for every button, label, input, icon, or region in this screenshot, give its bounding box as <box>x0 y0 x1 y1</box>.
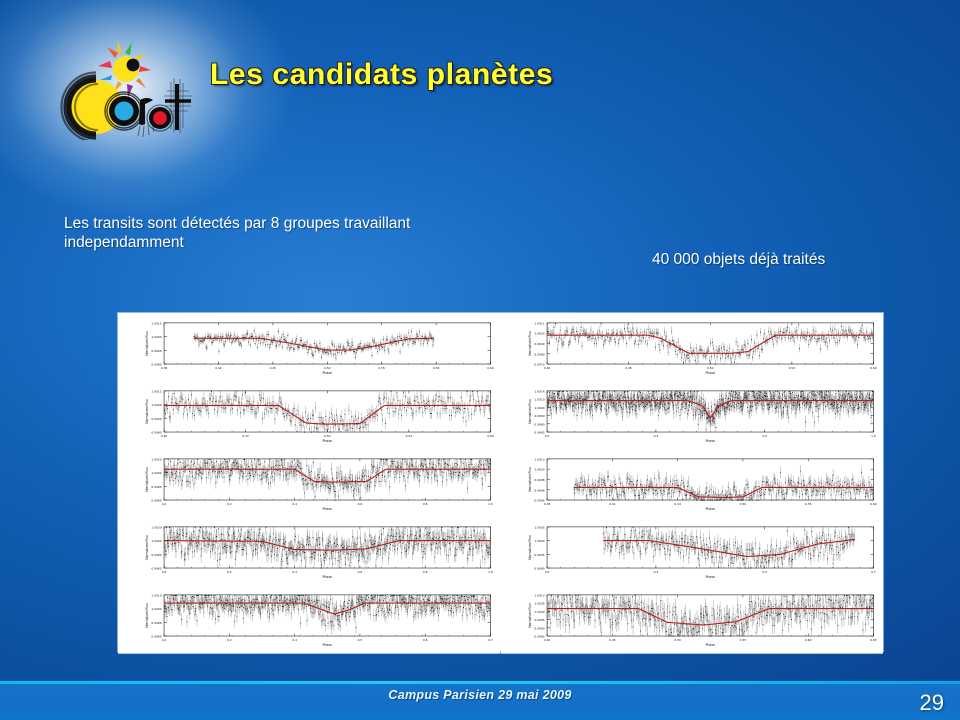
svg-text:0.55: 0.55 <box>739 639 746 643</box>
lightcurve-column-left: 1.00151.00000.99900.99800.380.420.450.50… <box>118 317 501 647</box>
svg-text:0.41: 0.41 <box>609 502 616 506</box>
svg-text:0.9996: 0.9996 <box>534 489 544 493</box>
svg-text:0.2: 0.2 <box>227 502 232 506</box>
svg-text:Normalized Flux: Normalized Flux <box>528 535 532 560</box>
body-text-left: Les transits sont détectés par 8 groupes… <box>64 214 464 252</box>
svg-text:Phase: Phase <box>705 643 715 647</box>
svg-text:1.0: 1.0 <box>488 502 493 506</box>
svg-text:0.9995: 0.9995 <box>534 553 544 557</box>
svg-text:0.54: 0.54 <box>406 434 413 438</box>
svg-text:1.0000: 1.0000 <box>151 540 161 544</box>
svg-text:0.0: 0.0 <box>162 502 167 506</box>
svg-text:Phase: Phase <box>705 507 715 511</box>
lightcurve-figure-panel: 1.00151.00000.99900.99800.380.420.450.50… <box>118 313 883 651</box>
svg-text:Normalized Flux: Normalized Flux <box>145 467 149 492</box>
svg-text:0.4: 0.4 <box>292 570 297 574</box>
svg-text:0.38: 0.38 <box>161 366 168 370</box>
svg-text:Normalized Flux: Normalized Flux <box>528 399 532 424</box>
svg-text:0.40: 0.40 <box>543 639 550 643</box>
svg-text:1.0012: 1.0012 <box>151 390 161 394</box>
svg-text:0.0: 0.0 <box>544 570 549 574</box>
footer-text: Campus Parisien 29 mai 2009 <box>0 688 960 702</box>
svg-text:0.4: 0.4 <box>653 570 658 574</box>
svg-text:1.0015: 1.0015 <box>151 321 161 325</box>
svg-text:0.44: 0.44 <box>674 502 681 506</box>
svg-text:0.9980: 0.9980 <box>151 553 161 557</box>
lightcurve-plot-lc-R4: 1.00051.00000.99950.99890.00.40.50.7Phas… <box>501 521 884 586</box>
svg-text:1.0020: 1.0020 <box>151 458 161 462</box>
svg-text:1.0000: 1.0000 <box>534 332 544 336</box>
slide-canvas: Les candidats planètes Les transits sont… <box>0 0 960 720</box>
svg-text:0.9990: 0.9990 <box>534 414 544 418</box>
svg-text:Normalized Flux: Normalized Flux <box>528 331 532 356</box>
lightcurve-plot-lc-R5: 1.00101.00051.00000.99950.99900.99850.40… <box>501 589 884 654</box>
lightcurve-plot-lc-L5: 1.00101.00000.99800.99600.00.20.40.50.60… <box>118 589 501 654</box>
svg-text:1.0000: 1.0000 <box>151 471 161 475</box>
lightcurve-plot-lc-L4: 1.00201.00000.99800.99600.00.20.40.60.81… <box>118 521 501 586</box>
lightcurve-plot-lc-L2: 1.00121.00000.99900.99800.400.470.500.54… <box>118 385 501 450</box>
svg-text:Phase: Phase <box>705 575 715 579</box>
svg-text:1.0000: 1.0000 <box>151 335 161 339</box>
svg-text:0.40: 0.40 <box>543 366 550 370</box>
svg-text:1.0005: 1.0005 <box>534 526 544 530</box>
svg-text:Normalized Flux: Normalized Flux <box>145 535 149 560</box>
svg-text:0.2: 0.2 <box>227 639 232 643</box>
svg-text:Phase: Phase <box>323 507 333 511</box>
svg-text:0.9980: 0.9980 <box>534 423 544 427</box>
svg-text:0.0: 0.0 <box>544 434 549 438</box>
svg-text:0.58: 0.58 <box>433 366 440 370</box>
svg-text:Phase: Phase <box>323 439 333 443</box>
svg-text:0.7: 0.7 <box>488 639 493 643</box>
svg-text:1.0000: 1.0000 <box>151 403 161 407</box>
svg-text:1.0: 1.0 <box>871 434 876 438</box>
svg-text:0.4: 0.4 <box>292 639 297 643</box>
svg-text:0.60: 0.60 <box>870 366 877 370</box>
svg-text:0.6: 0.6 <box>358 502 363 506</box>
svg-text:0.0: 0.0 <box>162 570 167 574</box>
lightcurve-plot-lc-R2: 1.00141.00101.00000.99900.99800.99650.00… <box>501 385 884 450</box>
svg-text:Normalized Flux: Normalized Flux <box>145 331 149 356</box>
lightcurve-plot-lc-R3: 1.00131.00000.99980.99960.99940.380.410.… <box>501 453 884 518</box>
svg-text:0.9990: 0.9990 <box>534 627 544 631</box>
logo-letter-o1 <box>105 92 143 130</box>
svg-text:0.7: 0.7 <box>871 570 876 574</box>
logo-letter-o2 <box>147 105 173 131</box>
svg-text:0.45: 0.45 <box>625 366 632 370</box>
svg-text:0.4: 0.4 <box>653 434 658 438</box>
svg-text:0.38: 0.38 <box>543 502 550 506</box>
svg-text:0.9990: 0.9990 <box>151 349 161 353</box>
svg-text:0.50: 0.50 <box>324 366 331 370</box>
svg-text:1.0000: 1.0000 <box>151 608 161 612</box>
svg-text:0.55: 0.55 <box>378 366 385 370</box>
svg-text:Phase: Phase <box>705 439 715 443</box>
svg-text:0.2: 0.2 <box>227 570 232 574</box>
svg-text:0.9965: 0.9965 <box>534 431 544 435</box>
svg-text:0.50: 0.50 <box>739 502 746 506</box>
svg-text:0.9989: 0.9989 <box>534 567 544 571</box>
svg-text:0.47: 0.47 <box>242 434 249 438</box>
svg-text:0.65: 0.65 <box>870 639 877 643</box>
svg-text:0.42: 0.42 <box>215 366 222 370</box>
svg-text:0.9960: 0.9960 <box>151 635 161 639</box>
svg-text:0.9960: 0.9960 <box>151 499 161 503</box>
svg-text:1.0000: 1.0000 <box>534 540 544 544</box>
svg-text:1.0000: 1.0000 <box>534 610 544 614</box>
svg-text:0.9960: 0.9960 <box>151 567 161 571</box>
svg-text:1.0014: 1.0014 <box>534 390 544 394</box>
svg-text:0.60: 0.60 <box>487 434 494 438</box>
svg-text:0.5: 0.5 <box>762 570 767 574</box>
svg-text:0.45: 0.45 <box>609 639 616 643</box>
svg-text:0.9980: 0.9980 <box>534 352 544 356</box>
svg-text:0.0: 0.0 <box>162 639 167 643</box>
svg-text:1.0000: 1.0000 <box>534 468 544 472</box>
page-number: 29 <box>920 690 944 716</box>
svg-text:0.6: 0.6 <box>358 570 363 574</box>
svg-text:Normalized Flux: Normalized Flux <box>528 603 532 628</box>
corot-logo <box>52 22 202 140</box>
svg-text:0.9980: 0.9980 <box>151 621 161 625</box>
svg-text:0.8: 0.8 <box>423 502 428 506</box>
svg-text:1.0005: 1.0005 <box>534 602 544 606</box>
svg-text:0.8: 0.8 <box>423 570 428 574</box>
svg-text:Phase: Phase <box>323 371 333 375</box>
svg-text:0.50: 0.50 <box>324 434 331 438</box>
lightcurve-plot-lc-L3: 1.00201.00000.99800.99600.00.20.40.60.81… <box>118 453 501 518</box>
svg-text:0.9990: 0.9990 <box>151 417 161 421</box>
svg-text:Phase: Phase <box>705 371 715 375</box>
svg-text:0.6: 0.6 <box>423 639 428 643</box>
body-text-right: 40 000 objets déjà traités <box>652 250 932 269</box>
svg-text:0.54: 0.54 <box>788 366 795 370</box>
svg-text:Normalized Flux: Normalized Flux <box>528 467 532 492</box>
svg-text:Phase: Phase <box>323 643 333 647</box>
svg-text:0.55: 0.55 <box>804 502 811 506</box>
svg-text:1.0010: 1.0010 <box>534 398 544 402</box>
svg-text:0.4: 0.4 <box>292 502 297 506</box>
page-title: Les candidats planètes <box>210 58 830 92</box>
svg-text:1.0010: 1.0010 <box>151 594 161 598</box>
svg-text:0.60: 0.60 <box>804 639 811 643</box>
svg-text:1.0020: 1.0020 <box>151 526 161 530</box>
lightcurve-plot-lc-R1: 1.00111.00000.99900.99800.99700.400.450.… <box>501 317 884 382</box>
svg-text:Phase: Phase <box>323 575 333 579</box>
svg-text:1.0: 1.0 <box>488 570 493 574</box>
svg-text:0.60: 0.60 <box>487 366 494 370</box>
svg-text:Normalized Flux: Normalized Flux <box>145 399 149 424</box>
lightcurve-plot-lc-L1: 1.00151.00000.99900.99800.380.420.450.50… <box>118 317 501 382</box>
svg-text:1.0010: 1.0010 <box>534 594 544 598</box>
svg-text:0.9998: 0.9998 <box>534 478 544 482</box>
svg-text:0.50: 0.50 <box>674 639 681 643</box>
lightcurve-column-right: 1.00111.00000.99900.99800.99700.400.450.… <box>501 317 884 647</box>
svg-text:0.40: 0.40 <box>161 434 168 438</box>
svg-text:0.6: 0.6 <box>762 434 767 438</box>
svg-text:0.9995: 0.9995 <box>534 619 544 623</box>
svg-text:0.50: 0.50 <box>707 366 714 370</box>
svg-text:0.5: 0.5 <box>358 639 363 643</box>
svg-text:0.9990: 0.9990 <box>534 342 544 346</box>
svg-text:1.0000: 1.0000 <box>534 406 544 410</box>
svg-text:0.60: 0.60 <box>870 502 877 506</box>
svg-text:1.0013: 1.0013 <box>534 458 544 462</box>
svg-text:Normalized Flux: Normalized Flux <box>145 603 149 628</box>
svg-text:1.0011: 1.0011 <box>534 321 544 325</box>
svg-text:0.9980: 0.9980 <box>151 485 161 489</box>
svg-text:0.45: 0.45 <box>270 366 277 370</box>
